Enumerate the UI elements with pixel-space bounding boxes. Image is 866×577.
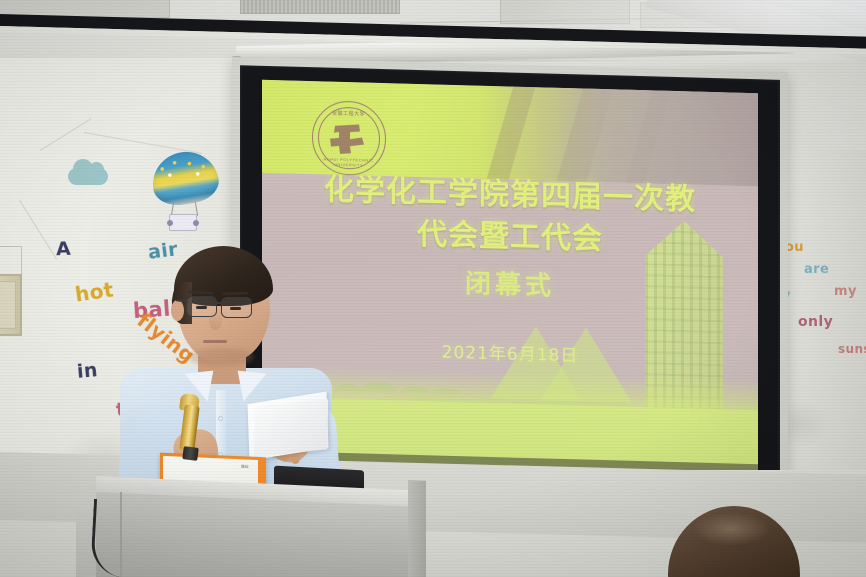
chin-shadow: [188, 348, 254, 366]
lectern-front-panel: [96, 492, 426, 577]
balloon-basket: [169, 214, 197, 231]
folder-print-mark: ▦▤: [241, 464, 254, 479]
shirt-collar-right: [235, 371, 267, 404]
eyeglasses-bridge: [216, 302, 223, 304]
speaker-ear: [171, 300, 184, 321]
speaker-nose: [209, 310, 222, 330]
wall-decal-word-air: air: [147, 238, 179, 263]
wall-decal-word-are: are: [804, 262, 829, 277]
projected-slide: 安徽工程大学 ANHUI POLYTECHNIC UNIVERSITY 化学化工…: [262, 80, 758, 479]
hot-air-balloon-icon: [152, 152, 218, 232]
wall-decal-word-sunshine: sunshine: [838, 342, 866, 356]
cloud-icon: [68, 168, 108, 185]
shirt-button: [218, 416, 223, 421]
wall-decal-word-a: A: [56, 238, 72, 261]
lectern-right-edge: [408, 480, 426, 577]
wall-decal-word-only: only: [798, 314, 833, 330]
wall-access-panel[interactable]: [0, 274, 22, 336]
wall-decal-word-my-right: my: [834, 284, 857, 299]
ceiling-vent: [240, 0, 400, 14]
speaker-mouth: [203, 340, 227, 343]
balloon-pattern: [148, 147, 221, 209]
wall-decal-word-in: in: [76, 359, 99, 383]
speaker-eye-right: [230, 307, 241, 310]
presentation-room-photo: A air hot balloon flying in the you are …: [0, 0, 866, 577]
audience-hair-highlight: [692, 512, 770, 546]
speaker-eye-left: [196, 306, 207, 309]
wall-junction-box: [0, 246, 22, 276]
seal-gong-glyph-icon: [329, 120, 369, 157]
seal-arc-top-text: 安徽工程大学: [313, 109, 385, 118]
speech-paper-front[interactable]: [254, 399, 328, 457]
wall-panel-inner: [0, 281, 16, 329]
microphone-base: [182, 446, 198, 461]
